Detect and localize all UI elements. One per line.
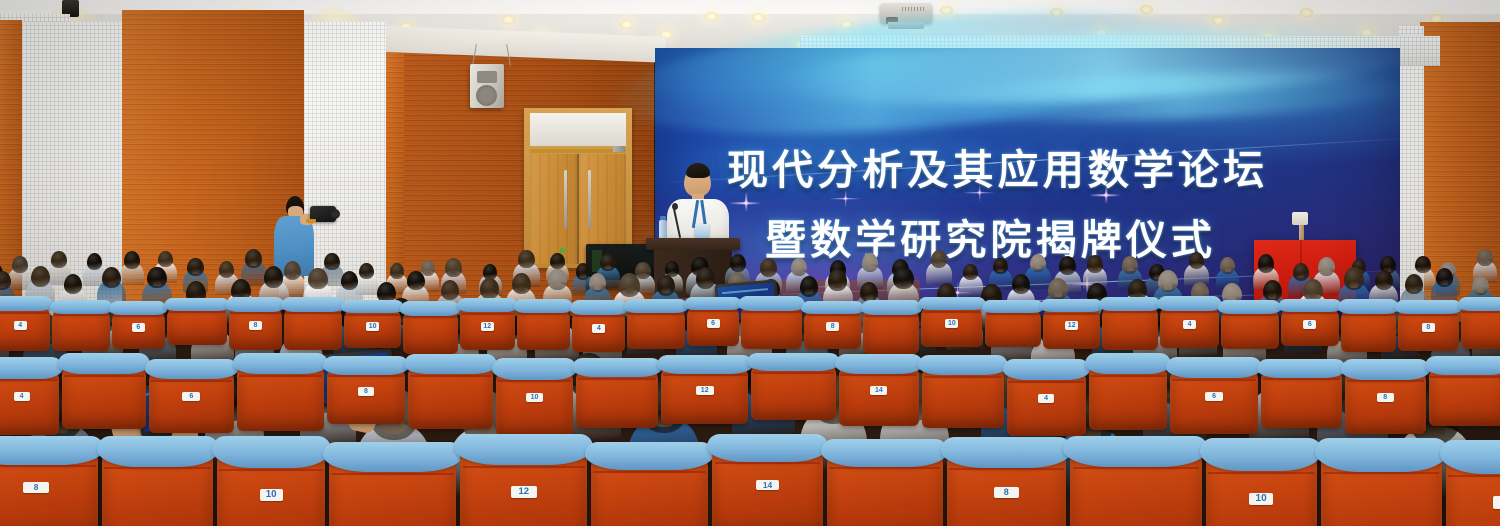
seat-piping: [328, 375, 404, 377]
door-transom-window: [530, 113, 626, 146]
audience-member-head: [893, 267, 913, 290]
seat-top-trim: [323, 356, 410, 375]
door-leaf-left[interactable]: [530, 154, 577, 264]
audience-member-head: [1258, 254, 1275, 273]
seat-number-plate: 6: [132, 323, 145, 332]
auditorium-seat[interactable]: 12: [661, 361, 748, 424]
auditorium-seat[interactable]: 8: [1345, 365, 1426, 433]
seat-number-plate: 8: [358, 387, 375, 396]
audience-member-head: [480, 278, 498, 298]
seat-top-trim: [212, 436, 331, 469]
audience-member-head: [31, 266, 50, 287]
audience-member-head: [1472, 276, 1489, 295]
seat-piping: [924, 376, 1002, 378]
auditorium-seat[interactable]: [102, 445, 213, 526]
downlight-icon: [1212, 16, 1225, 25]
audience-member-head: [1012, 274, 1030, 294]
audience-member-head: [512, 273, 531, 295]
seat-top-trim: [1218, 300, 1282, 313]
seat-number-plate: 12: [1065, 321, 1078, 330]
seat-number-plate: 10: [1249, 493, 1272, 506]
seat-top-trim: [861, 300, 923, 315]
seat-piping: [1208, 472, 1315, 474]
seat-number-plate: 6: [1303, 320, 1316, 329]
seat-number-plate: 6: [1205, 392, 1223, 401]
banner-sparkle-icon: [843, 196, 848, 201]
bottle-cap: [660, 216, 666, 220]
seat-top-trim: [1341, 359, 1430, 379]
auditorium-seat[interactable]: 12: [1043, 303, 1100, 349]
auditorium-seat[interactable]: 6: [149, 365, 234, 433]
audience-member-head: [1415, 256, 1431, 274]
audience-member-head: [124, 251, 140, 269]
seat-top-trim: [1315, 438, 1448, 472]
audience-member-head: [64, 274, 82, 294]
downlight-icon: [620, 20, 633, 29]
auditorium-seat[interactable]: [1429, 362, 1500, 426]
audience-member-head: [1220, 257, 1235, 274]
seat-top-trim: [1458, 297, 1500, 312]
audience-member-head: [550, 253, 564, 269]
audience-member-head: [407, 271, 424, 290]
seat-piping: [0, 465, 96, 467]
seat-top-trim: [50, 300, 113, 314]
seat-number-plate: 6: [182, 392, 200, 401]
seat-piping: [574, 315, 625, 317]
audience-member-head: [931, 250, 947, 268]
seat-piping: [1323, 472, 1439, 474]
audience-member-head: [308, 268, 327, 289]
speaker-hair: [686, 163, 710, 178]
seat-piping: [410, 375, 491, 377]
downlight-icon: [840, 20, 853, 29]
seat-piping: [497, 380, 572, 382]
audience-member-head: [576, 263, 591, 279]
seat-piping: [463, 466, 585, 468]
auditorium-seat[interactable]: 8: [1398, 304, 1459, 350]
seat-number-plate: 8: [249, 321, 262, 330]
auditorium-seat[interactable]: 12: [1446, 451, 1500, 526]
seat-number-plate: 12: [696, 386, 714, 395]
auditorium-seat[interactable]: 10: [217, 445, 325, 526]
audience-member-head: [635, 262, 650, 279]
audience-member-head: [1189, 252, 1205, 270]
auditorium-seat[interactable]: [167, 302, 227, 345]
auditorium-seat[interactable]: 4: [0, 364, 59, 436]
auditorium-seat[interactable]: [329, 451, 456, 526]
seat-top-trim: [0, 296, 53, 311]
auditorium-seat[interactable]: 10: [344, 304, 401, 348]
auditorium-seat[interactable]: 6: [1281, 303, 1340, 347]
seat-piping: [1430, 376, 1500, 378]
seat-top-trim: [1157, 296, 1221, 310]
door-sign: [613, 146, 625, 152]
seat-number-plate: 10: [260, 489, 283, 501]
audience-member-head: [158, 251, 173, 267]
audience-member-head: [245, 249, 262, 268]
seat-number-plate: 6: [707, 319, 720, 328]
auditorium-seat[interactable]: [62, 360, 146, 429]
seat-piping: [332, 473, 454, 475]
audience-member-head: [862, 253, 878, 271]
auditorium-seat[interactable]: [52, 304, 110, 351]
auditorium-seat[interactable]: [1461, 301, 1500, 349]
seat-piping: [1103, 311, 1157, 313]
audience-member-head: [1318, 257, 1335, 276]
downlight-icon: [940, 6, 953, 15]
auditorium-seat[interactable]: [517, 303, 570, 350]
audience-member-head: [445, 258, 462, 276]
seat-number-plate: 14: [870, 386, 887, 395]
audience-member-head: [791, 258, 807, 276]
audience-member-head: [1048, 278, 1068, 300]
auditorium-seat[interactable]: [1089, 360, 1168, 430]
seat-top-trim: [1099, 297, 1161, 312]
seat-top-trim: [97, 436, 219, 467]
seat-top-trim: [1395, 300, 1462, 314]
audience-member-head: [1293, 263, 1309, 281]
auditorium-seat[interactable]: 6: [112, 305, 165, 349]
camera-lens-icon: [330, 209, 340, 219]
seat-top-trim: [1200, 438, 1322, 472]
seat-top-trim: [572, 358, 662, 377]
door-handle-right[interactable]: [588, 170, 591, 228]
seat-piping: [518, 313, 569, 315]
seat-top-trim: [281, 297, 345, 311]
seat-top-trim: [226, 297, 285, 312]
auditorium-seat[interactable]: [1070, 445, 1202, 526]
seat-number-plate: 10: [945, 319, 958, 328]
auditorium-seat[interactable]: 10: [921, 301, 982, 347]
seat-piping: [805, 314, 860, 316]
seat-top-trim: [1166, 357, 1263, 378]
seat-piping: [1347, 380, 1424, 382]
audience-member-head: [963, 264, 978, 281]
downlight-icon: [1300, 8, 1313, 17]
audience-member-head: [264, 266, 283, 288]
seat-piping: [404, 316, 456, 318]
podium-top: [646, 238, 740, 250]
seat-piping: [1448, 475, 1500, 477]
seat-top-trim: [514, 299, 573, 313]
auditorium-seat[interactable]: [863, 304, 919, 354]
auditorium-seat[interactable]: [1102, 301, 1158, 350]
seat-top-trim: [0, 436, 104, 464]
door-indicator-icon: [560, 248, 565, 253]
auditorium-seat[interactable]: [284, 302, 342, 350]
seat-top-trim: [233, 353, 328, 375]
seat-piping: [715, 462, 821, 464]
seat-piping: [461, 313, 514, 315]
auditorium-seat[interactable]: [576, 364, 658, 428]
auditorium-seat[interactable]: [1221, 304, 1279, 348]
auditorium-seat[interactable]: [1321, 448, 1442, 526]
downlight-icon: [1140, 5, 1153, 14]
seat-top-trim: [707, 434, 828, 462]
auditorium-seat[interactable]: [627, 303, 685, 349]
auditorium-seat[interactable]: [1341, 304, 1396, 353]
auditorium-seat[interactable]: 8: [804, 305, 861, 349]
auditorium-seat[interactable]: [827, 447, 943, 526]
seat-top-trim: [1040, 299, 1103, 313]
auditorium-seat[interactable]: 4: [1007, 365, 1086, 436]
seat-piping: [1172, 379, 1256, 381]
seat-number-plate: 12: [1493, 496, 1500, 509]
audience-member-head: [1375, 270, 1393, 290]
seat-top-trim: [323, 442, 463, 472]
seat-top-trim: [1257, 359, 1346, 378]
audience-member-head: [589, 273, 606, 292]
audience-member-head: [187, 258, 203, 276]
audience-member-head: [760, 258, 777, 277]
seat-number-plate: 4: [14, 321, 27, 330]
seat-piping: [54, 314, 109, 316]
seat-piping: [1222, 314, 1277, 316]
seat-top-trim: [982, 300, 1044, 313]
seat-number-plate: 10: [366, 322, 379, 331]
seat-piping: [593, 471, 706, 473]
seat-number-plate: 4: [1183, 320, 1196, 329]
seat-top-trim: [164, 298, 230, 311]
seat-piping: [168, 311, 226, 313]
auditorium-seat[interactable]: 10: [1206, 448, 1317, 526]
speaker-badge: [695, 224, 709, 238]
seat-top-trim: [1425, 356, 1500, 375]
seat-top-trim: [1063, 436, 1208, 467]
seat-top-trim: [1338, 299, 1398, 314]
audience-member-head: [1303, 279, 1323, 302]
ceiling-projector: [880, 3, 932, 23]
seat-piping: [628, 313, 683, 315]
audience-member-head: [1263, 280, 1282, 301]
wall-speaker: [470, 64, 504, 108]
seat-top-trim: [624, 299, 687, 313]
seat-top-trim: [0, 357, 63, 378]
auditorium-seat[interactable]: 6: [1170, 364, 1258, 434]
seat-piping: [1263, 378, 1341, 380]
projector-mount: [888, 22, 924, 29]
seat-top-trim: [145, 359, 239, 379]
seat-top-trim: [400, 301, 460, 315]
seat-piping: [840, 374, 917, 376]
seat-piping: [1342, 314, 1395, 316]
seat-number-plate: 12: [511, 486, 538, 498]
door-handle-left[interactable]: [564, 170, 567, 228]
audience-member-head: [600, 254, 616, 272]
seat-piping: [1462, 311, 1500, 313]
seat-piping: [150, 380, 232, 382]
audience-member-head: [102, 267, 121, 288]
seat-number-plate: 8: [23, 482, 49, 493]
seat-piping: [1282, 312, 1338, 314]
audience-member-head: [619, 273, 640, 296]
auditorium-seat[interactable]: 8: [229, 302, 283, 351]
seat-top-trim: [747, 353, 840, 372]
seat-piping: [688, 310, 738, 312]
seat-piping: [923, 311, 982, 313]
audience-member-head: [324, 253, 339, 270]
seat-piping: [1090, 375, 1166, 377]
seat-piping: [1044, 313, 1099, 315]
auditorium-seat[interactable]: [751, 358, 835, 420]
audience-member-head: [1087, 255, 1102, 272]
seat-piping: [1399, 314, 1457, 316]
door-gap: [577, 154, 579, 264]
camera-strap: [306, 219, 316, 223]
audience-member-head: [341, 271, 358, 290]
auditorium-seat[interactable]: 14: [712, 442, 822, 526]
seat-piping: [1008, 381, 1084, 383]
seat-top-trim: [58, 353, 150, 374]
seat-number-plate: 10: [526, 393, 542, 402]
auditorium-seat[interactable]: [1261, 364, 1342, 428]
seat-piping: [230, 312, 282, 314]
audience-member-head: [1405, 274, 1423, 294]
seat-piping: [865, 315, 919, 317]
seat-piping: [742, 311, 800, 313]
seat-top-trim: [657, 355, 753, 374]
audience-member-head: [800, 276, 818, 296]
seat-piping: [285, 312, 341, 314]
seat-piping: [986, 313, 1040, 315]
seat-number-plate: 8: [1422, 323, 1435, 332]
seat-top-trim: [738, 296, 805, 311]
seat-top-trim: [492, 358, 577, 379]
banner-sparkle-icon: [743, 200, 749, 206]
seat-piping: [753, 372, 834, 374]
audience-member-head: [390, 263, 404, 279]
audience-member-head: [87, 253, 102, 270]
auditorium-seat[interactable]: [237, 359, 324, 431]
seat-piping: [219, 469, 323, 471]
audience-member-head: [12, 256, 28, 273]
banner-title-line-2: 暨数学研究院揭牌仪式: [765, 206, 1216, 266]
audience-member-head: [993, 258, 1008, 274]
seat-top-trim: [684, 297, 742, 311]
downlight-icon: [502, 15, 515, 24]
audience-member-head: [51, 251, 67, 268]
seat-piping: [239, 375, 322, 377]
audience-member-head: [1122, 256, 1138, 274]
microphone-head-icon: [672, 203, 678, 210]
auditorium-seat[interactable]: 12: [460, 302, 515, 350]
auditorium-seat[interactable]: [741, 300, 802, 349]
seat-number-plate: 12: [481, 322, 494, 331]
auditorium-seat[interactable]: [403, 305, 458, 353]
seat-top-trim: [341, 300, 403, 313]
seat-top-trim: [1278, 299, 1342, 312]
audience-member-head: [657, 275, 676, 296]
seat-number-plate: 8: [994, 487, 1019, 499]
plaque-cover: [1292, 212, 1308, 225]
auditorium-seat[interactable]: 8: [327, 362, 406, 424]
seat-top-trim: [918, 355, 1008, 375]
downlight-icon: [1050, 8, 1063, 17]
seat-piping: [829, 467, 940, 469]
door-lintel: [530, 149, 626, 153]
seat-top-trim: [585, 442, 714, 470]
auditorium-seat[interactable]: 4: [572, 305, 625, 353]
audience-member-head: [730, 254, 746, 272]
seat-top-trim: [570, 300, 628, 314]
seat-top-trim: [1085, 353, 1172, 374]
seat-top-trim: [918, 297, 985, 311]
audience-member-head: [1477, 249, 1493, 266]
seat-piping: [949, 468, 1064, 470]
auditorium-seat[interactable]: 14: [839, 360, 919, 426]
banner-title-line-1: 现代分析及其应用数学论坛: [727, 136, 1268, 196]
auditorium-seat[interactable]: 12: [460, 443, 587, 526]
seat-piping: [113, 315, 164, 317]
seat-piping: [64, 375, 144, 377]
seat-piping: [104, 467, 210, 469]
seat-piping: [0, 379, 58, 381]
auditorium-seat[interactable]: 4: [0, 301, 50, 351]
audience-member-head: [828, 269, 847, 290]
seat-number-plate: 4: [1038, 394, 1055, 403]
seat-number-plate: 8: [1377, 393, 1394, 402]
auditorium-seat[interactable]: [408, 360, 492, 429]
downlight-icon: [752, 13, 765, 22]
seat-piping: [1162, 311, 1218, 313]
seat-top-trim: [1003, 359, 1090, 380]
audience-member-head: [1030, 254, 1046, 272]
audience-member-head: [1344, 267, 1365, 290]
seat-top-trim: [454, 434, 593, 466]
seat-top-trim: [821, 439, 948, 467]
seat-number-plate: 4: [14, 392, 30, 401]
audience-member-head: [147, 267, 166, 289]
seat-top-trim: [801, 301, 864, 314]
auditorium-seat[interactable]: 6: [687, 301, 739, 346]
auditorium-seat[interactable]: 8: [947, 446, 1066, 526]
seat-number-plate: 8: [826, 322, 839, 331]
auditorium-seat[interactable]: [985, 304, 1042, 348]
seat-top-trim: [109, 301, 167, 314]
seat-number-plate: 4: [592, 324, 605, 333]
audience-member-head: [1059, 256, 1076, 275]
downlight-icon: [705, 12, 718, 21]
audience-member-head: [548, 269, 567, 290]
seat-piping: [345, 314, 400, 316]
seat-top-trim: [835, 354, 923, 374]
seat-top-trim: [457, 298, 518, 312]
seat-piping: [663, 374, 747, 376]
auditorium-seat[interactable]: 10: [496, 365, 574, 437]
seat-top-trim: [941, 437, 1072, 467]
audience-member-head: [284, 261, 301, 280]
audience-member-head: [518, 250, 535, 269]
seat-top-trim: [404, 354, 497, 375]
water-bottle: [659, 220, 667, 240]
seat-piping: [1073, 467, 1199, 469]
seat-piping: [578, 378, 656, 380]
auditorium-seat[interactable]: 8: [0, 445, 98, 526]
auditorium-seat[interactable]: [922, 361, 1004, 428]
audience-member-head: [1158, 270, 1178, 292]
audience-member-head: [1436, 268, 1453, 287]
banner-swoosh: [894, 65, 1415, 129]
seat-piping: [0, 312, 49, 314]
auditorium-seat[interactable]: 4: [1160, 301, 1218, 348]
auditorium-seat[interactable]: [591, 451, 708, 526]
auditorium-scene: 现代分析及其应用数学论坛 暨数学研究院揭牌仪式 4681012468101246…: [0, 0, 1500, 526]
seat-number-plate: 14: [756, 480, 779, 491]
